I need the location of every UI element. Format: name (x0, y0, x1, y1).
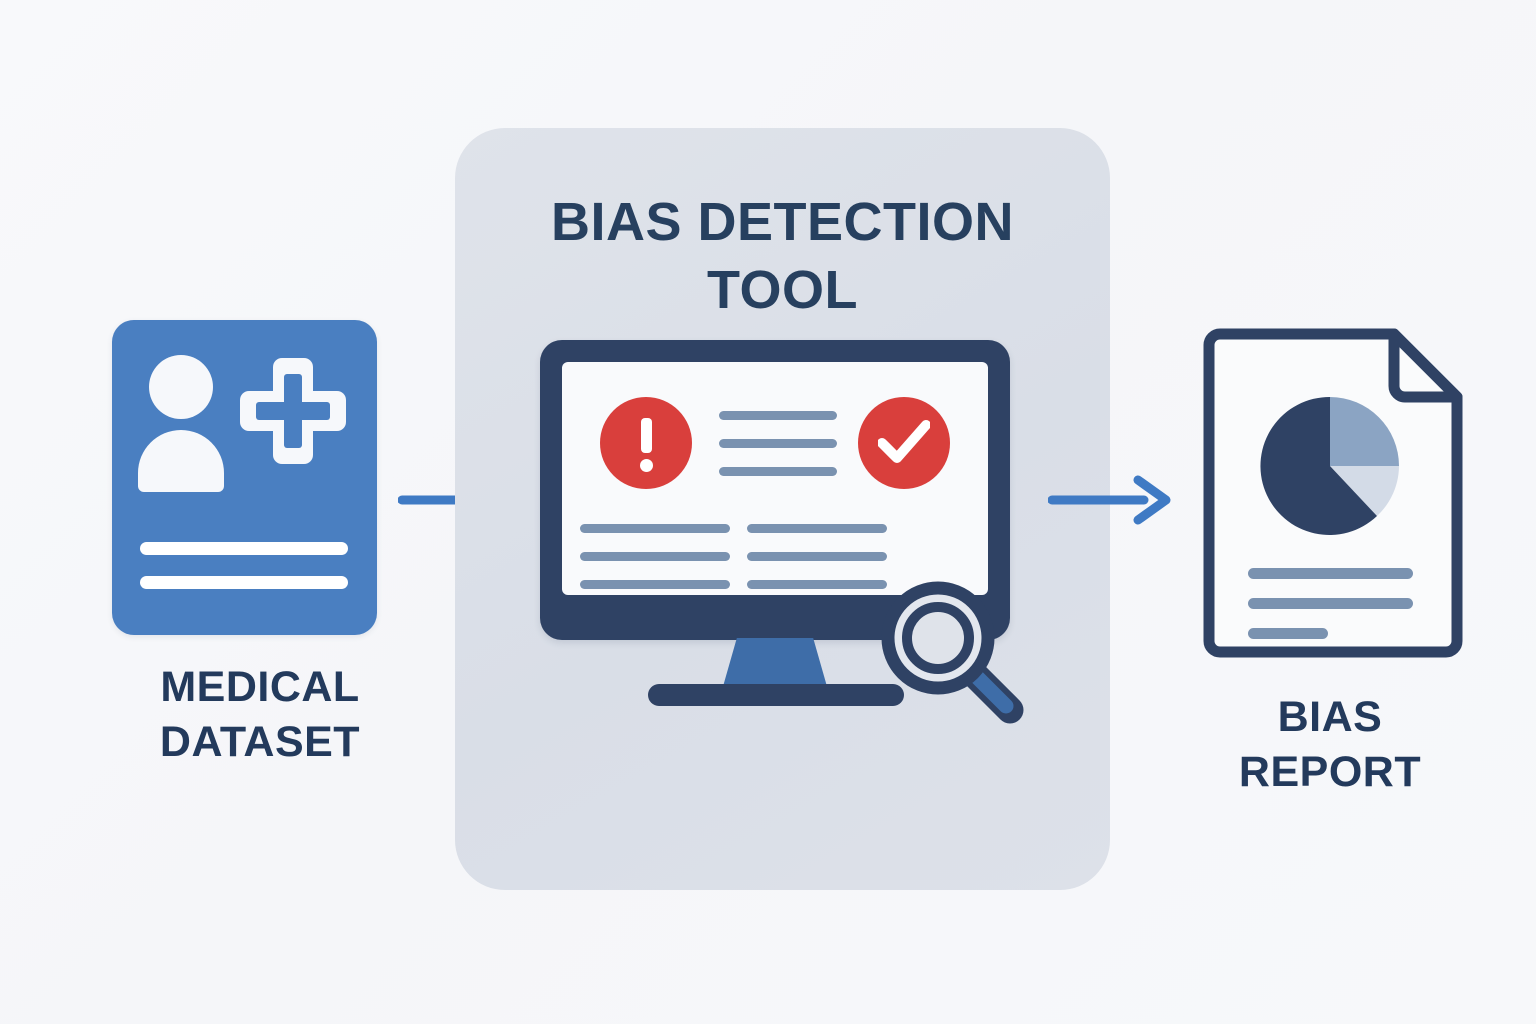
cross-inner-vertical (284, 374, 302, 448)
bias-detection-tool-panel: BIAS DETECTION TOOL (455, 128, 1110, 890)
pie-chart (1260, 397, 1399, 535)
person-head-icon (149, 355, 213, 419)
screen-text-line (719, 411, 837, 420)
screen-text-line (747, 580, 887, 589)
exclamation-stem (641, 418, 652, 453)
dataset-label-line-1: MEDICAL (60, 660, 460, 715)
medical-cross-icon (240, 358, 346, 464)
tool-title-line-2: TOOL (495, 256, 1070, 324)
checkmark-glyph (878, 419, 930, 467)
bias-report-document (1198, 328, 1463, 658)
diagram-canvas: MEDICAL DATASET BIAS DETECTION TOOL (0, 0, 1536, 1024)
medical-dataset-card (112, 320, 377, 635)
document-corner-fold (1394, 334, 1457, 397)
dataset-label-line-2: DATASET (60, 715, 460, 770)
magnifying-glass-icon (870, 570, 1030, 730)
report-text-line (1248, 598, 1413, 609)
report-label-line-2: REPORT (1130, 745, 1530, 800)
exclamation-dot (640, 459, 653, 472)
report-text-line (1248, 628, 1328, 639)
dataset-text-line (140, 542, 348, 555)
check-circle-icon (858, 397, 950, 489)
monitor-stand-neck (722, 638, 828, 690)
monitor-stand-base (648, 684, 904, 706)
bias-report-node: BIAS REPORT (1130, 320, 1530, 800)
warning-exclamation-icon (600, 397, 692, 489)
medical-dataset-node: MEDICAL DATASET (60, 320, 460, 800)
screen-text-line (580, 580, 730, 589)
person-body-icon (138, 430, 224, 492)
monitor-illustration (540, 340, 1010, 740)
medical-dataset-label: MEDICAL DATASET (60, 660, 460, 770)
screen-text-line (747, 552, 887, 561)
screen-text-line (719, 439, 837, 448)
screen-text-line (580, 552, 730, 561)
screen-text-line (719, 467, 837, 476)
monitor-screen (562, 362, 988, 595)
report-text-line (1248, 568, 1413, 579)
screen-text-line (580, 524, 730, 533)
screen-text-line (747, 524, 887, 533)
report-label-line-1: BIAS (1130, 690, 1530, 745)
dataset-text-line (140, 576, 348, 589)
bias-report-label: BIAS REPORT (1130, 690, 1530, 800)
tool-title-line-1: BIAS DETECTION (495, 188, 1070, 256)
tool-panel-title: BIAS DETECTION TOOL (495, 188, 1070, 324)
